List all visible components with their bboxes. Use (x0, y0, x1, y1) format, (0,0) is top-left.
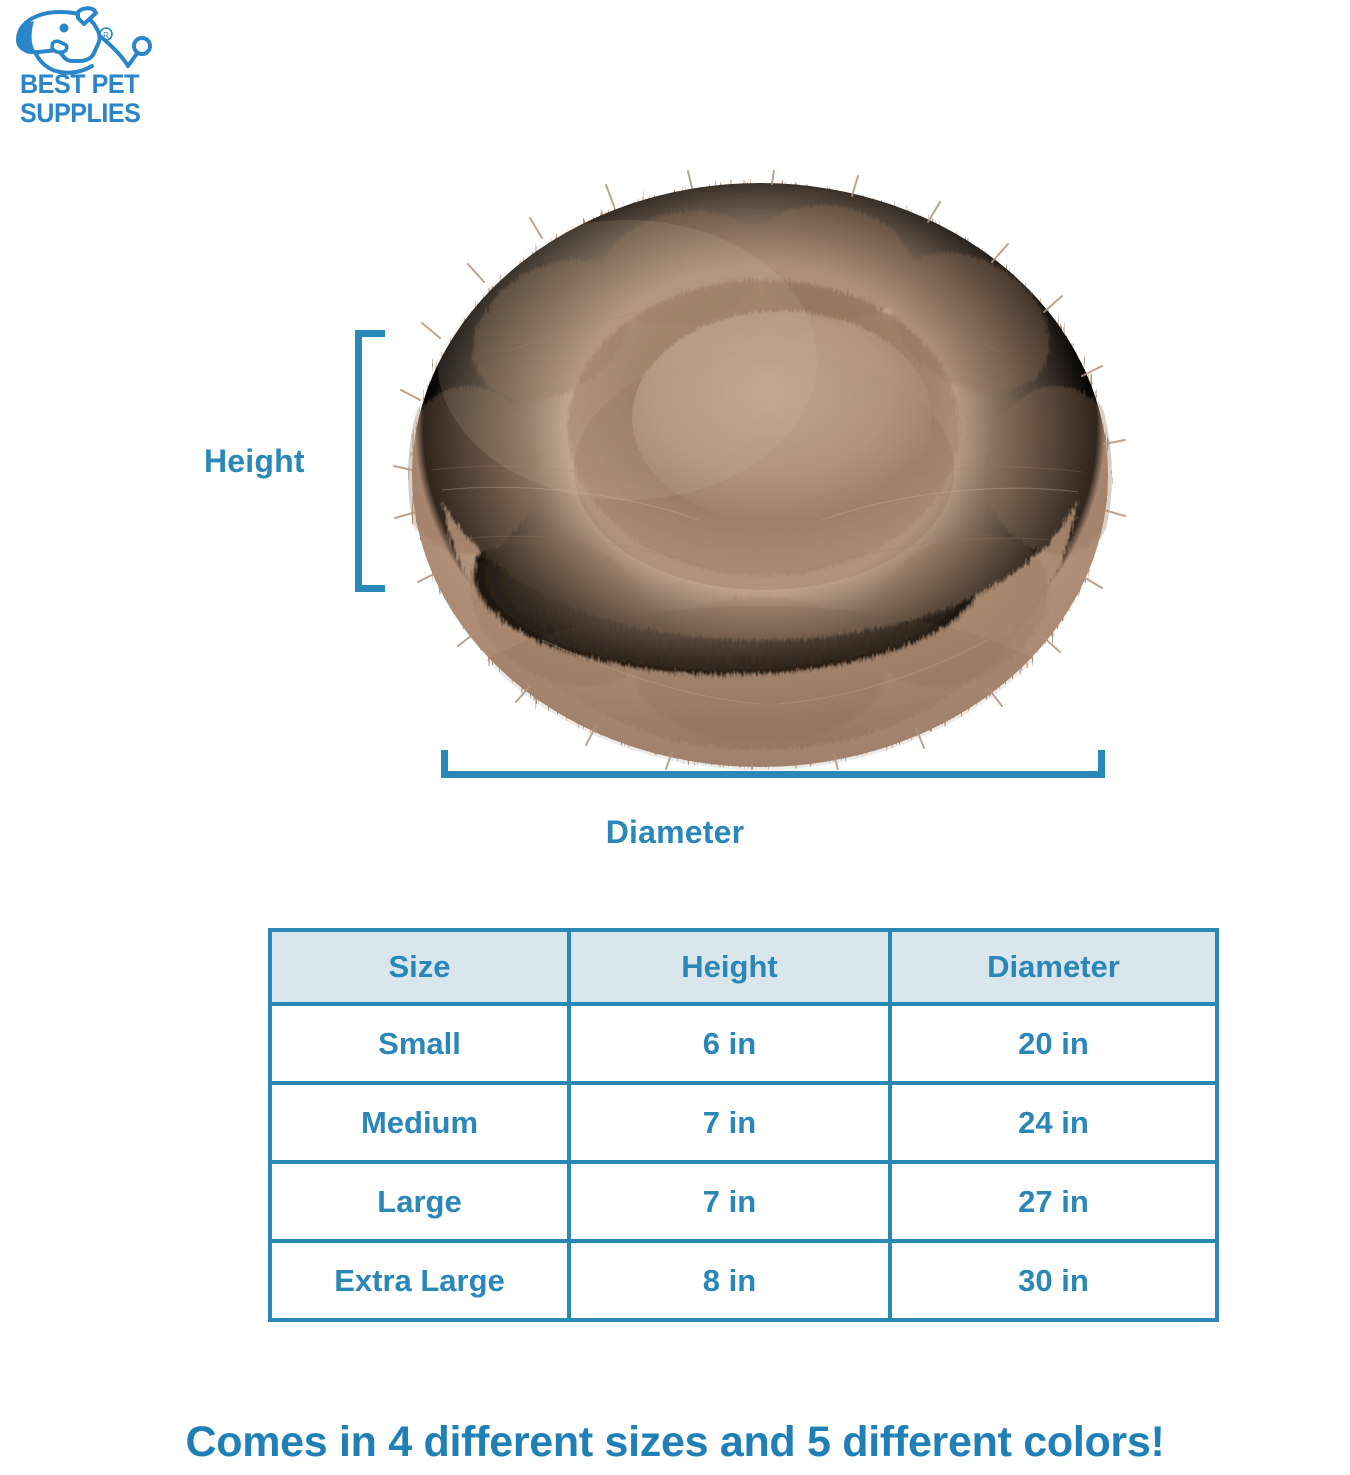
size-chart-table: Size Height Diameter Small 6 in 20 in Me… (268, 928, 1219, 1322)
footer-tagline: Comes in 4 different sizes and 5 differe… (0, 1418, 1350, 1467)
pet-bed-photo (392, 170, 1128, 770)
column-header-diameter: Diameter (890, 930, 1217, 1004)
table-row: Large 7 in 27 in (270, 1162, 1217, 1241)
cell-diameter: 30 in (890, 1241, 1217, 1320)
diameter-bracket (441, 750, 1105, 778)
table-row: Extra Large 8 in 30 in (270, 1241, 1217, 1320)
column-header-size: Size (270, 930, 569, 1004)
column-header-height: Height (569, 930, 890, 1004)
product-infographic: R BEST PET SUPPLIES (0, 0, 1350, 1475)
brand-name-line-2: SUPPLIES (20, 99, 169, 128)
svg-text:R: R (103, 31, 109, 40)
cell-diameter: 27 in (890, 1162, 1217, 1241)
height-bracket (355, 330, 385, 592)
cell-height: 6 in (569, 1004, 890, 1083)
cell-height: 7 in (569, 1162, 890, 1241)
cell-size: Small (270, 1004, 569, 1083)
brand-logo: R BEST PET SUPPLIES (8, 4, 178, 132)
cell-size: Large (270, 1162, 569, 1241)
cell-size: Medium (270, 1083, 569, 1162)
cell-size: Extra Large (270, 1241, 569, 1320)
cell-height: 7 in (569, 1083, 890, 1162)
table-header-row: Size Height Diameter (270, 930, 1217, 1004)
table-row: Small 6 in 20 in (270, 1004, 1217, 1083)
brand-wordmark: BEST PET SUPPLIES (20, 70, 180, 132)
diameter-label: Diameter (0, 814, 1350, 851)
brand-name-line-1: BEST PET (20, 70, 169, 99)
cell-height: 8 in (569, 1241, 890, 1320)
cell-diameter: 24 in (890, 1083, 1217, 1162)
cell-diameter: 20 in (890, 1004, 1217, 1083)
height-label: Height (204, 443, 305, 480)
table-row: Medium 7 in 24 in (270, 1083, 1217, 1162)
